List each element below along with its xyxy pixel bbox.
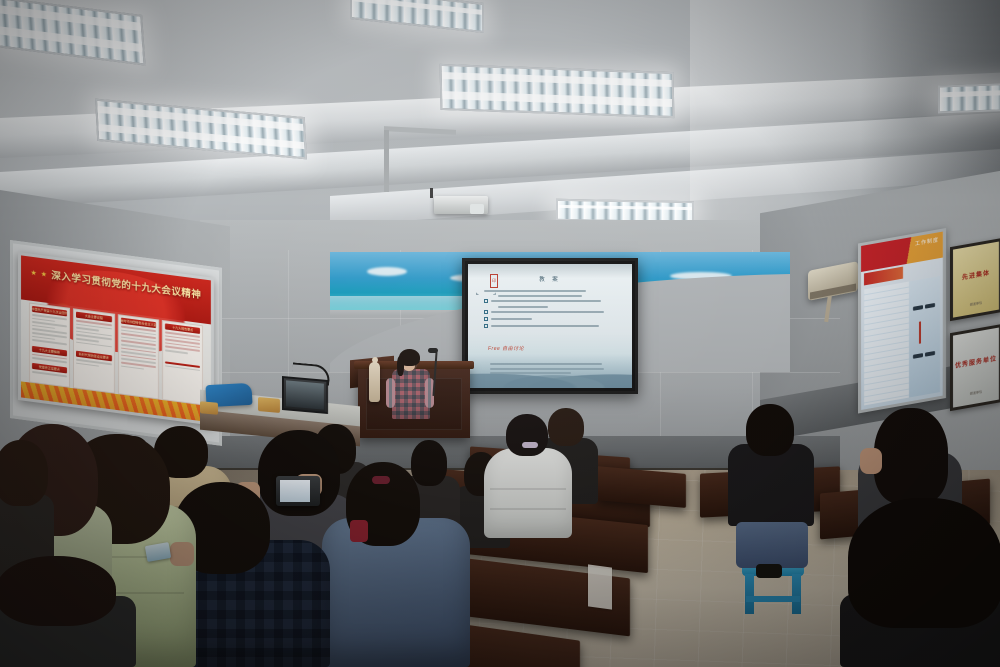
- star-icon: ★ ★: [31, 269, 49, 279]
- desktop-monitor: [282, 376, 328, 414]
- certificate-text: 优秀服务单位: [955, 354, 997, 370]
- cardboard-box: [258, 397, 280, 413]
- attendee-black-blazer: [728, 444, 814, 526]
- ceiling-light-4: [440, 64, 675, 118]
- attendee-hair: [506, 414, 548, 456]
- slide-title: 教 案: [468, 275, 632, 283]
- slide-mountain-watermark: [468, 354, 632, 388]
- slide-line: [484, 324, 622, 328]
- info-board-title: 工作制度: [915, 236, 939, 247]
- banner-column: 十九大报告要点: [162, 320, 203, 405]
- certificate-subtext: 颁发单位: [970, 390, 982, 396]
- info-board-photo-column: [909, 276, 940, 397]
- attendee-hair: [746, 404, 794, 456]
- presenter-hair-side: [397, 356, 404, 376]
- puffer-seam: [490, 508, 566, 510]
- slide-line: [484, 310, 622, 314]
- presenter-speaker: [390, 352, 430, 422]
- banner-column: 大会主要议程 新时代党的建设总要求: [73, 308, 114, 393]
- microphone-head: [428, 348, 438, 353]
- framed-award-gold[interactable]: 先进集体 颁发单位: [950, 238, 1000, 321]
- projector-drop-pole: [384, 130, 389, 192]
- attendee-hand-holding-phone: [170, 542, 194, 566]
- attendee-denim-jacket: [322, 462, 470, 667]
- projector-lens: [470, 204, 484, 214]
- attendee-puffer-jacket: [484, 448, 572, 538]
- info-board-table: [864, 281, 910, 405]
- anatomical-model-figurine: [369, 362, 380, 402]
- party-propaganda-board[interactable]: ★ ★ 深入学习贯彻党的十九大会议精神 中国共产党第十九次全国代表大会 十九大主…: [18, 252, 214, 426]
- slide-red-annotation: Free 自由讨论: [488, 345, 524, 352]
- slide-bullet-icon: [484, 324, 488, 328]
- slide-body: [484, 290, 622, 348]
- slide-line: [484, 317, 622, 321]
- slide-bullet-icon: [484, 310, 488, 314]
- attendee-white-puffer-jacket: [484, 414, 572, 538]
- attendee-black-blazer-stool: [728, 404, 814, 580]
- red-bag-strap: [350, 520, 368, 542]
- stool-leg: [792, 574, 801, 614]
- info-board-thermometer-icon: [919, 321, 921, 343]
- certificate-text: 先进集体: [962, 267, 990, 281]
- slide-bullet-icon: [484, 317, 488, 321]
- attendee-front-right-dark: [840, 498, 1000, 667]
- department-information-board[interactable]: 工作制度: [858, 228, 946, 414]
- framed-award-grey[interactable]: 优秀服务单位 颁发单位: [950, 324, 1000, 411]
- ceiling-light-6: [938, 82, 1000, 113]
- attendee-hair: [874, 408, 948, 504]
- certificate-subtext: 颁发单位: [970, 300, 982, 306]
- projection-screen[interactable]: 印 教 案: [462, 258, 638, 394]
- stool-cross-brace: [746, 596, 800, 602]
- handout-paper: [588, 564, 612, 609]
- attendee-hair: [0, 440, 48, 506]
- projected-slide: 印 教 案: [468, 264, 632, 388]
- slide-line: [498, 295, 622, 297]
- meeting-room-photo: ★ ★ 深入学习贯彻党的十九大会议精神 中国共产党第十九次全国代表大会 十九大主…: [0, 0, 1000, 667]
- hair-clip: [372, 476, 390, 484]
- slide-bullet-icon: [484, 299, 488, 303]
- attendee-hand-on-face: [860, 448, 882, 474]
- attendee-hair: [0, 556, 116, 626]
- attendee-front-bottom-left: [0, 556, 136, 667]
- banner-column: 中国共产党第十九次全国代表大会 十九大主要精神 党章修正案要点: [29, 302, 70, 387]
- cardboard-box: [200, 401, 218, 415]
- monitor-screen: [286, 380, 324, 409]
- hair-tie: [522, 442, 538, 448]
- attendee-jeans: [736, 522, 808, 568]
- slide-line: [498, 306, 622, 308]
- projector-bracket-arms: [430, 188, 492, 198]
- attendee-shoe: [756, 564, 782, 578]
- slide-line: [484, 299, 622, 303]
- stool-leg: [745, 574, 754, 614]
- puffer-seam: [490, 488, 566, 490]
- banner-column: 新时代中国特色社会主义思想: [118, 314, 159, 399]
- presenter-arm-left: [386, 378, 395, 408]
- attendee-hair: [848, 498, 1000, 628]
- slide-line: [484, 290, 622, 292]
